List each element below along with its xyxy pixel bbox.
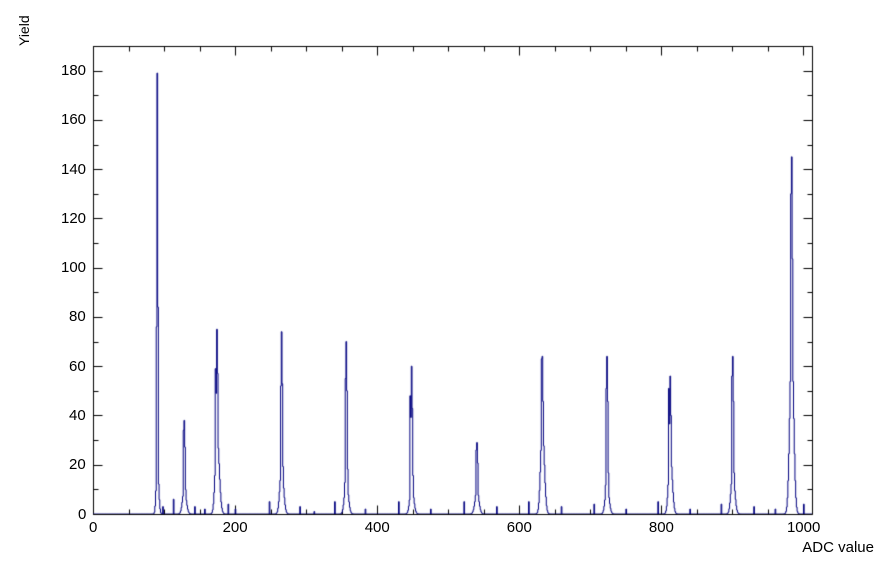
histogram-canvas [0,0,896,572]
y-tick-label: 20 [69,456,86,473]
y-tick-label: 80 [69,308,86,325]
x-tick-label: 800 [649,519,674,536]
y-tick-label: 180 [61,62,86,79]
x-tick-label: 400 [365,519,390,536]
y-tick-label: 120 [61,210,86,227]
x-tick-label: 200 [223,519,248,536]
y-tick-label: 0 [78,506,86,523]
root-plot-container: Yield vs ADC value for chip 333 chan 8 Y… [0,0,896,572]
x-axis-title: ADC value [802,539,874,556]
x-tick-label: 1000 [787,519,820,536]
x-tick-label: 0 [89,519,97,536]
x-tick-label: 600 [507,519,532,536]
y-tick-label: 40 [69,407,86,424]
y-tick-label: 100 [61,259,86,276]
y-axis-title: Yield [16,15,32,46]
y-tick-label: 60 [69,358,86,375]
y-tick-label: 160 [61,111,86,128]
y-tick-label: 140 [61,161,86,178]
